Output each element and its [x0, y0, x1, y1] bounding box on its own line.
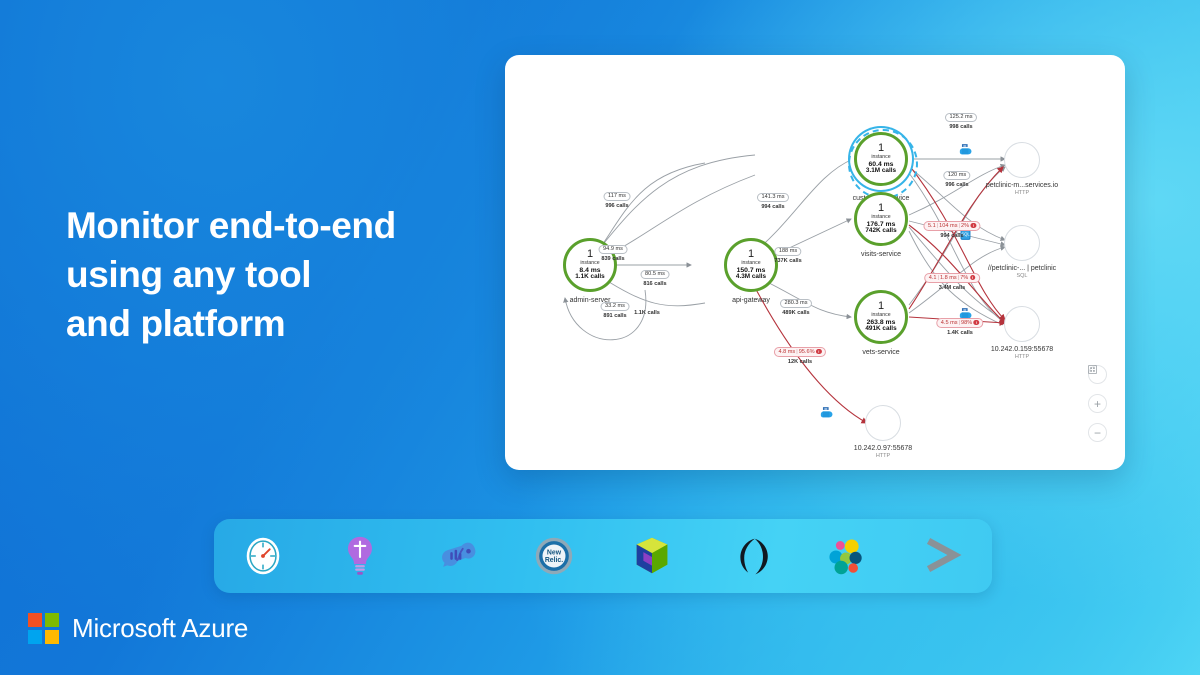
edge-latency: 125.2 ms — [945, 113, 977, 122]
node-ring: 1 instance 150.7 ms 4.3M calls — [724, 238, 778, 292]
node-ring: 1 instance 176.7 ms 742K calls — [854, 192, 908, 246]
edge-error-rate: 98% — [961, 320, 972, 326]
error-icon: ! — [970, 275, 976, 281]
partner-logo-appdynamics[interactable] — [623, 530, 681, 582]
edge-latency: 94.9 ms — [599, 245, 628, 254]
endpoint-label: petclinic-m...services.io — [957, 182, 1087, 189]
edge-latency: 117 ms — [604, 192, 631, 201]
endpoint-protocol: HTTP — [818, 453, 948, 459]
edge-calls: 1.1K calls — [634, 310, 660, 316]
partner-logo-lightstep[interactable] — [331, 530, 389, 582]
node-ring: 1 instance 263.8 ms 491K calls — [854, 290, 908, 344]
edge-label-e12[interactable]: 4.1|1.8 ms|7%! 3.4M calls — [924, 266, 980, 291]
microsoft-azure-logo: Microsoft Azure — [28, 613, 248, 644]
http-service-icon — [1004, 142, 1040, 178]
edge-error-rate: 95.6% — [799, 349, 815, 355]
edge-lead: 5.1 — [928, 223, 936, 229]
edge-label-e13[interactable]: 4.5 ms|98%! 1.4K calls — [936, 311, 983, 336]
edge-latency: 80.5 ms — [641, 270, 670, 279]
edge-calls: 3.4M calls — [924, 285, 980, 291]
edge-calls: 489K calls — [780, 310, 812, 316]
node-ring-selected: 1 instance 60.4 ms 3.1M calls — [854, 132, 908, 186]
edge-calls: 839 calls — [599, 256, 628, 262]
edge-calls: 12K calls — [774, 359, 826, 365]
node-calls: 3.1M calls — [866, 168, 896, 175]
edge-error-rate: 2% — [961, 223, 969, 229]
edge-label-e5[interactable]: 1.1K calls — [634, 309, 660, 316]
partner-logo-grafana[interactable] — [234, 530, 292, 582]
partner-logo-bar: New Relic. — [214, 519, 992, 593]
endpoint-petclinic-http[interactable]: petclinic-m...services.io HTTP — [957, 142, 1087, 196]
edge-latency: 141.3 ms — [757, 193, 789, 202]
service-node-visits-service[interactable]: 1 instance 176.7 ms 742K calls visits-se… — [825, 192, 937, 258]
service-map-canvas[interactable]: 1 instance 8.4 ms 1.1K calls admin-serve… — [505, 55, 1125, 470]
edge-calls: 1.4K calls — [936, 330, 983, 336]
headline-line-3: and platform — [66, 300, 496, 349]
partner-logo-dynatrace[interactable] — [720, 530, 778, 582]
edge-calls: 996 calls — [943, 182, 970, 188]
error-icon: ! — [816, 349, 822, 355]
edge-label-e9[interactable]: 125.2 ms 998 calls — [945, 105, 977, 130]
zoom-out-icon[interactable]: − — [1088, 423, 1107, 442]
service-node-vets-service[interactable]: 1 instance 263.8 ms 491K calls vets-serv… — [825, 290, 937, 356]
endpoint-label: 10.242.0.159:55678 — [957, 346, 1087, 353]
node-calls: 4.3M calls — [736, 274, 766, 281]
edge-label-e4[interactable]: 33.2 ms 891 calls — [601, 294, 630, 319]
edge-error-pill: 4.1|1.8 ms|7%! — [924, 273, 980, 282]
edge-label-e6[interactable]: 141.3 ms 994 calls — [757, 185, 789, 210]
service-map-card: 1 instance 8.4 ms 1.1K calls admin-serve… — [505, 55, 1125, 470]
edge-latency: 4.8 ms — [778, 349, 795, 355]
edge-latency: 280.3 ms — [780, 299, 812, 308]
node-calls: 1.1K calls — [575, 274, 605, 281]
node-label: visits-service — [825, 251, 937, 258]
partner-logo-elastic[interactable] — [817, 530, 875, 582]
edge-latency: 120 ms — [943, 171, 970, 180]
edge-error-pill: 4.5 ms|98%! — [936, 318, 983, 327]
page-title: Monitor end-to-end using any tool and pl… — [66, 202, 496, 348]
http-service-icon — [1004, 306, 1040, 342]
edge-label-e11[interactable]: 5.1|104 ms|2%! 994 calls — [923, 214, 980, 239]
edge-error-pill: 5.1|104 ms|2%! — [923, 221, 980, 230]
brand-name: Microsoft Azure — [72, 613, 248, 644]
node-calls: 491K calls — [865, 326, 896, 333]
edge-calls: 891 calls — [601, 313, 630, 319]
node-instance-word: instance — [871, 155, 890, 161]
svg-text:New: New — [547, 550, 562, 557]
edge-label-e3[interactable]: 80.5 ms 816 calls — [641, 262, 670, 287]
edge-label-e7[interactable]: 188 ms 737K calls — [774, 239, 801, 264]
edge-latency: 188 ms — [774, 247, 801, 256]
edge-calls: 737K calls — [774, 258, 801, 264]
error-icon: ! — [971, 223, 977, 229]
error-icon: ! — [974, 320, 980, 326]
endpoint-protocol: HTTP — [957, 354, 1087, 360]
partner-logo-datadog[interactable] — [428, 530, 486, 582]
edge-label-e2[interactable]: 94.9 ms 839 calls — [599, 237, 628, 262]
microsoft-logo-icon — [28, 613, 59, 644]
sql-database-icon: SQL — [1004, 225, 1040, 261]
edge-label-e14[interactable]: 4.8 ms|95.6%! 12K calls — [774, 340, 826, 365]
edge-error-pill: 4.8 ms|95.6%! — [774, 347, 826, 356]
http-service-icon — [865, 405, 901, 441]
edge-label-e8[interactable]: 280.3 ms 489K calls — [780, 291, 812, 316]
edge-calls: 998 calls — [945, 124, 977, 130]
edge-label-e1[interactable]: 117 ms 996 calls — [604, 184, 631, 209]
edge-latency: 33.2 ms — [601, 302, 630, 311]
node-instance-count: 1 — [878, 143, 884, 155]
zoom-in-icon[interactable]: + — [1088, 394, 1107, 413]
node-label: vets-service — [825, 349, 937, 356]
partner-logo-splunk[interactable] — [914, 530, 972, 582]
map-zoom-controls: + − — [1088, 365, 1107, 452]
edge-lead: 4.1 — [929, 275, 937, 281]
headline-line-2: using any tool — [66, 251, 496, 300]
headline-line-1: Monitor end-to-end — [66, 202, 496, 251]
partner-logo-new-relic[interactable]: New Relic. — [525, 530, 583, 582]
edge-latency: 1.8 ms — [940, 275, 957, 281]
edge-calls: 994 calls — [923, 233, 980, 239]
svg-text:Relic.: Relic. — [545, 557, 563, 564]
fit-to-screen-icon[interactable] — [1088, 365, 1107, 384]
edge-error-rate: 7% — [960, 275, 968, 281]
endpoint-label: 10.242.0.97:55678 — [818, 445, 948, 452]
node-latency: 60.4 ms — [869, 161, 894, 168]
edge-latency: 4.5 ms — [941, 320, 958, 326]
endpoint-protocol: HTTP — [957, 190, 1087, 196]
edge-calls: 994 calls — [757, 204, 789, 210]
node-calls: 742K calls — [865, 228, 896, 235]
edge-calls: 816 calls — [641, 281, 670, 287]
edge-label-e10[interactable]: 120 ms 996 calls — [943, 163, 970, 188]
edge-latency: 104 ms — [939, 223, 957, 229]
endpoint-host-97[interactable]: 10.242.0.97:55678 HTTP — [818, 405, 948, 459]
edge-calls: 996 calls — [604, 203, 631, 209]
